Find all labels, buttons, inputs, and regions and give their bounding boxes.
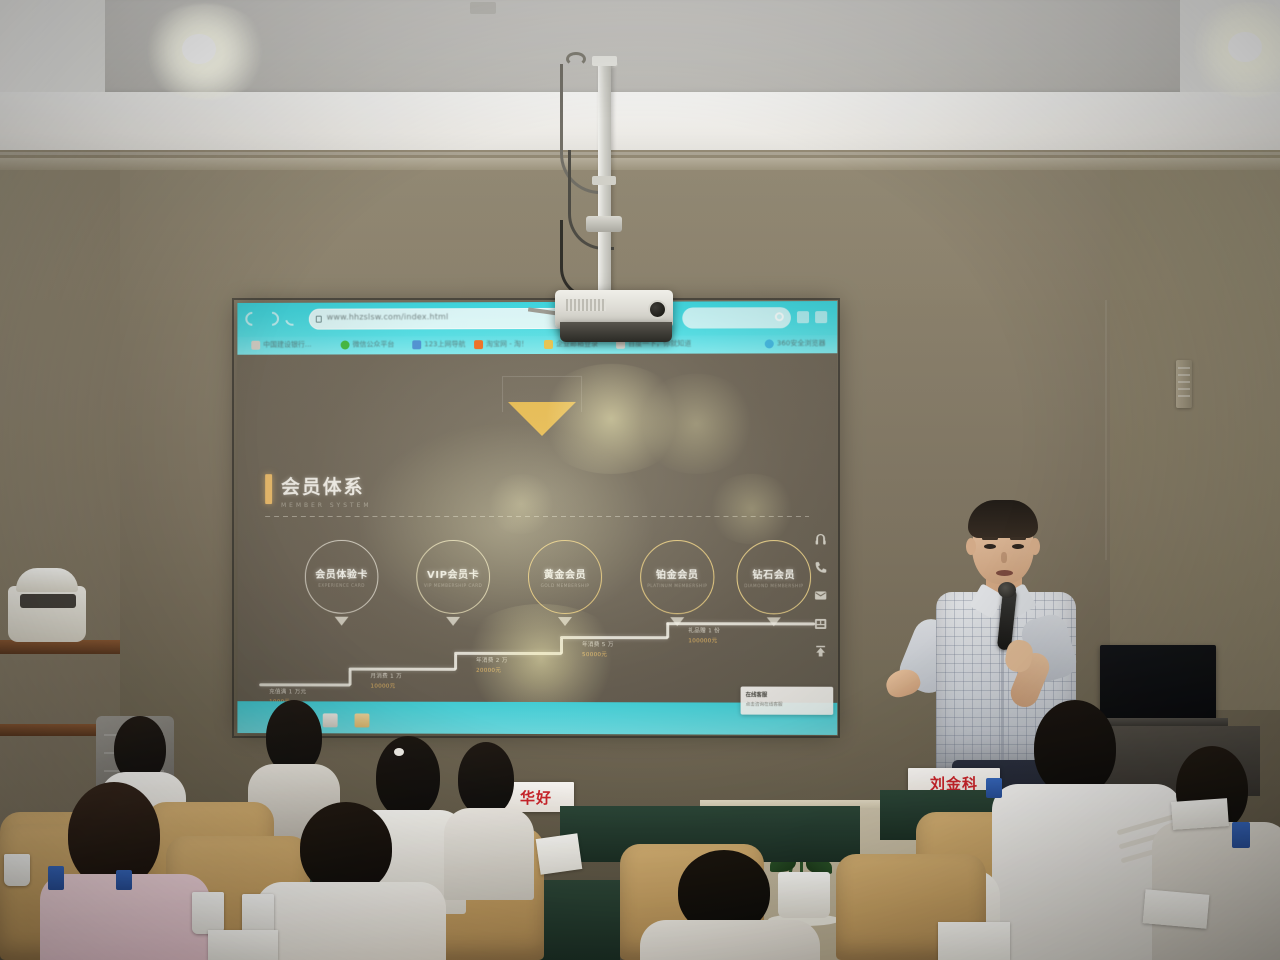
pot-lid: [16, 568, 78, 592]
presenter-ear-left: [966, 538, 976, 555]
step-label-text: 年消费 2 万: [476, 656, 508, 664]
step-riser-3: [560, 638, 563, 654]
audience-head: [68, 782, 160, 888]
tier-circle-4[interactable]: 铂金会员 PLATINUM MEMBERSHIP: [640, 540, 714, 614]
tier-name: 钻石会员: [752, 566, 795, 581]
step-tread-1: [259, 683, 350, 686]
audience-head: [1034, 700, 1116, 796]
bookmark-favicon: [765, 339, 774, 348]
wall-cornice: [0, 158, 1280, 170]
settings-icon[interactable]: [815, 311, 827, 323]
bookmark-favicon: [544, 339, 553, 348]
presenter-nose: [1001, 552, 1007, 563]
tier-name: 铂金会员: [656, 566, 699, 581]
tier-circle-3[interactable]: 黄金会员 GOLD MEMBERSHIP: [528, 540, 602, 614]
tier-circle-2[interactable]: VIP会员卡 VIP MEMBERSHIP CARD: [416, 540, 490, 614]
handout-paper: [938, 922, 1010, 960]
water-bottle-cap: [48, 866, 64, 890]
presenter-eyebrow-left: [982, 537, 998, 540]
audience-head: [266, 700, 322, 774]
tier-circle-1[interactable]: 会员体验卡 EXPERIENCE CARD: [305, 540, 379, 614]
audience-member: [1160, 746, 1280, 960]
audience-head: [458, 742, 514, 816]
section-title-cn: 会员体系: [281, 472, 371, 499]
webpage-body: 会员体系 MEMBER SYSTEM 会员体验卡 EXPERIENCE CARD…: [237, 353, 837, 703]
step-riser-2: [454, 654, 456, 670]
audience-body: [444, 808, 534, 900]
step-label-text: 年消费 5 万: [582, 640, 614, 648]
step-riser-1: [349, 670, 351, 686]
step-value-text: 10000元: [370, 682, 401, 690]
tier-name: 会员体验卡: [315, 566, 368, 581]
tier-staircase-chart: 充值满 1 万元 1000元 月消费 1 万 10000元 年消费 2 万 20…: [259, 622, 815, 699]
projector-pole-clamp: [592, 176, 616, 185]
step-value-text: 20000元: [476, 666, 508, 674]
projector-lens-icon: [648, 300, 667, 319]
step-label-3: 年消费 2 万 20000元: [476, 656, 508, 674]
audience-member: [444, 742, 530, 892]
tier-name-en: GOLD MEMBERSHIP: [541, 583, 590, 588]
step-value-text: 50000元: [582, 650, 614, 658]
lock-icon: [316, 316, 322, 323]
bookmark-label: 淘宝网 - 淘！: [486, 339, 528, 349]
bookmark-item[interactable]: 中国建设银行...: [251, 340, 311, 350]
tier-name-en: PLATINUM MEMBERSHIP: [647, 583, 707, 588]
bookmark-favicon: [341, 340, 350, 349]
tier-name-en: VIP MEMBERSHIP CARD: [424, 583, 482, 588]
microphone-head: [998, 582, 1016, 598]
air-vent-icon: [1176, 360, 1192, 408]
bookmark-item[interactable]: 淘宝网 - 淘！: [474, 339, 528, 349]
audience-member: [256, 802, 436, 960]
spotlight-core-left: [182, 34, 216, 64]
step-tread-3: [454, 652, 562, 655]
paper-cup: [4, 854, 30, 886]
presenter-eye-left: [984, 544, 996, 549]
handout-paper: [208, 930, 278, 960]
water-bottle-cap: [116, 870, 132, 890]
toast-title: 在线客服: [746, 691, 829, 699]
projector-pole-bracket: [586, 216, 622, 232]
reload-icon[interactable]: [282, 309, 301, 328]
projector-pole-cap: [592, 56, 617, 66]
browser-toolbar: www.hhzslsw.com/index.html: [237, 301, 837, 337]
bookmark-item[interactable]: 360安全浏览器: [765, 338, 826, 348]
audience-member: [640, 850, 810, 960]
bookmark-favicon: [251, 340, 260, 349]
projector-glare: [706, 474, 797, 544]
forward-icon[interactable]: [262, 309, 282, 329]
bookmark-favicon: [412, 340, 421, 349]
paper-cup: [192, 892, 224, 934]
projection-screen: www.hhzslsw.com/index.html 中国建设银行... 微信公…: [237, 301, 837, 735]
water-bottle-cap: [1232, 822, 1250, 848]
search-icon[interactable]: [775, 312, 784, 321]
section-divider: [265, 516, 809, 517]
step-tread-4: [560, 636, 668, 639]
phone-icon[interactable]: [813, 560, 828, 575]
bookmark-label: 中国建设银行...: [263, 340, 311, 350]
floating-side-rail: [809, 532, 831, 660]
step-label-text: 充值满 1 万元: [269, 687, 306, 695]
back-to-top-icon[interactable]: [813, 645, 828, 660]
wall-ceiling-seam: [0, 152, 1280, 155]
customer-service-icon[interactable]: [813, 532, 828, 547]
hair-clip-icon: [394, 748, 404, 756]
bookmark-item[interactable]: 微信公众平台: [341, 339, 395, 349]
step-label-text: 礼品赠 1 份: [688, 626, 720, 634]
right-wall: [1110, 150, 1280, 710]
step-label-2: 月消费 1 万 10000元: [370, 672, 401, 690]
url-text: www.hhzslsw.com/index.html: [327, 312, 449, 321]
projector-underside: [560, 322, 672, 342]
message-icon[interactable]: [813, 588, 828, 603]
handout-paper: [536, 833, 583, 874]
wall-shelf-lower: [0, 724, 110, 736]
presenter-mouth: [996, 570, 1013, 576]
step-value-text: 100000元: [688, 636, 720, 644]
handout-paper: [1171, 798, 1229, 830]
bookmark-label: 360安全浏览器: [777, 338, 826, 348]
chat-toast-popup[interactable]: 在线客服 点击咨询在线客服: [741, 687, 834, 715]
section-title-en: MEMBER SYSTEM: [281, 502, 371, 509]
step-label-5: 礼品赠 1 份 100000元: [688, 626, 720, 644]
toast-subtitle: 点击咨询在线客服: [746, 702, 829, 708]
section-title: 会员体系 MEMBER SYSTEM: [265, 472, 371, 509]
ceiling-vent: [470, 2, 496, 14]
step-tread-2: [349, 668, 457, 671]
presenter-ear-right: [1030, 538, 1040, 555]
bookmark-bar: 中国建设银行... 微信公众平台 123上网导航 淘宝网 - 淘！ 企业邮箱登录…: [237, 335, 837, 355]
bookmark-label: 123上网导航: [424, 339, 465, 349]
audience-body: [640, 920, 820, 960]
tier-name: 黄金会员: [544, 566, 586, 581]
menu-icon[interactable]: [797, 311, 809, 323]
spotlight-core-right: [1228, 32, 1262, 62]
audience-body: [256, 882, 446, 960]
step-tread-5: [666, 622, 815, 625]
tier-name: VIP会员卡: [427, 566, 479, 581]
bookmark-favicon: [474, 340, 483, 349]
pot-contents: [20, 594, 76, 608]
title-accent-bar: [265, 474, 272, 504]
back-icon[interactable]: [242, 309, 262, 329]
step-label-4: 年消费 5 万 50000元: [582, 640, 614, 658]
presenter-hair: [968, 500, 1038, 538]
presenter-eyebrow-right: [1010, 537, 1026, 540]
water-bottle-cap: [986, 778, 1002, 798]
presenter-eye-right: [1012, 544, 1024, 549]
tier-name-en: EXPERIENCE CARD: [318, 583, 365, 588]
wall-shelf-upper: [0, 640, 120, 654]
membership-tier-row: 会员体验卡 EXPERIENCE CARD VIP会员卡 VIP MEMBERS…: [267, 540, 807, 614]
conference-room-photo: www.hhzslsw.com/index.html 中国建设银行... 微信公…: [0, 0, 1280, 960]
qrcode-icon[interactable]: [813, 616, 828, 631]
tier-name-en: DIAMOND MEMBERSHIP: [744, 583, 803, 588]
projector-vent-icon: [566, 299, 606, 311]
bookmark-item[interactable]: 123上网导航: [412, 339, 465, 349]
audience-head: [300, 802, 392, 894]
bookmark-label: 微信公众平台: [353, 339, 395, 349]
banner-arrow-icon: [508, 402, 576, 436]
projector-glare: [636, 374, 757, 474]
handout-paper: [1143, 889, 1210, 928]
tier-circle-5[interactable]: 钻石会员 DIAMOND MEMBERSHIP: [737, 540, 812, 614]
taskbar-folder-icon[interactable]: [355, 713, 370, 727]
step-label-text: 月消费 1 万: [370, 672, 401, 680]
projector-glare: [486, 474, 556, 534]
